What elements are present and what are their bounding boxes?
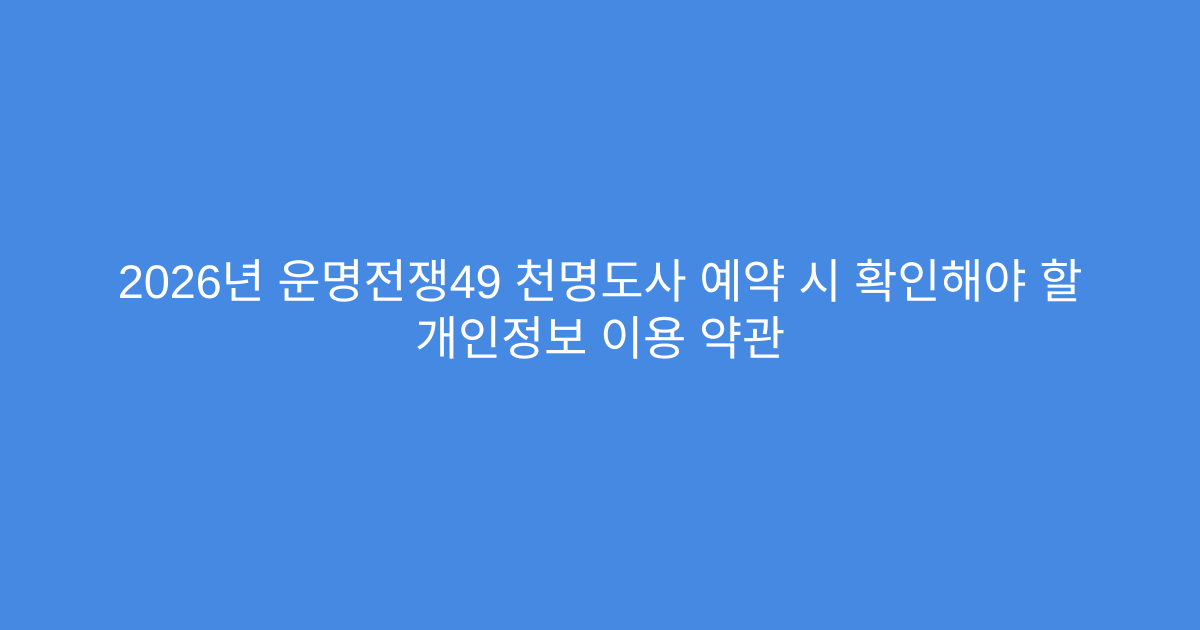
og-card: 2026년 운명전쟁49 천명도사 예약 시 확인해야 할 개인정보 이용 약관 <box>0 0 1200 630</box>
headline-container: 2026년 운명전쟁49 천명도사 예약 시 확인해야 할 개인정보 이용 약관 <box>0 253 1200 367</box>
page-title: 2026년 운명전쟁49 천명도사 예약 시 확인해야 할 개인정보 이용 약관 <box>64 253 1136 367</box>
